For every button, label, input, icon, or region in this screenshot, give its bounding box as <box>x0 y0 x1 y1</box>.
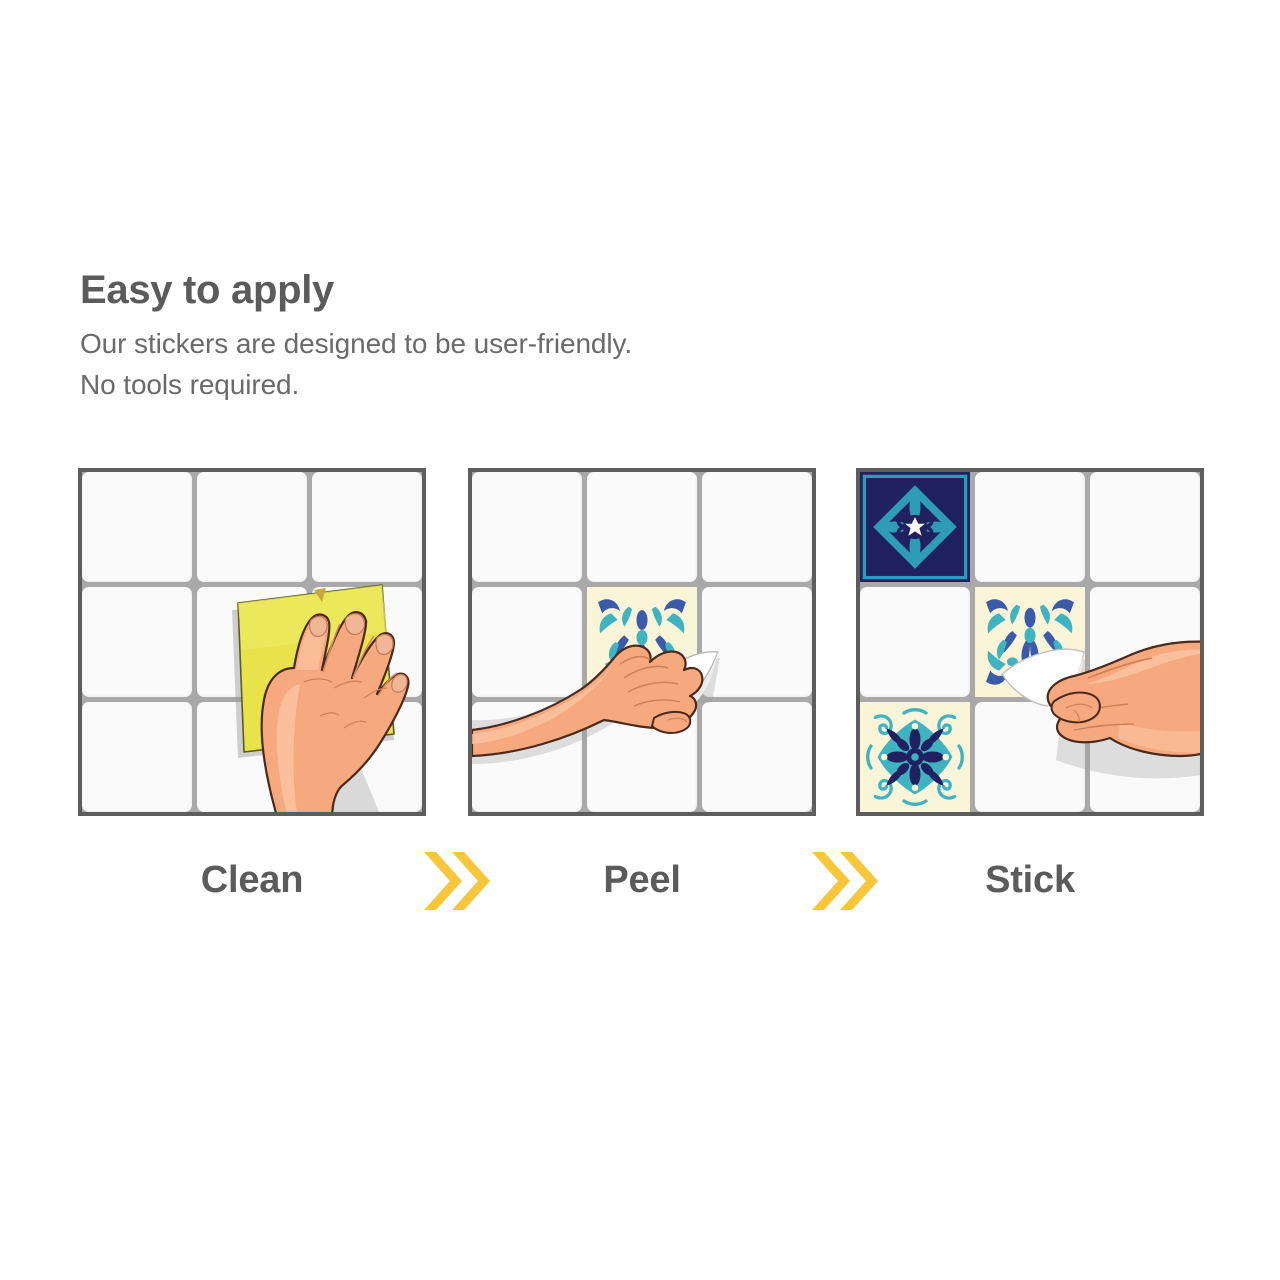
tile <box>860 587 970 697</box>
tile <box>1090 702 1200 812</box>
tile-decorated-top-left <box>860 472 970 582</box>
subtitle-line-2: No tools required. <box>80 365 980 406</box>
tile-grid-stick <box>860 472 1200 812</box>
tile <box>702 587 812 697</box>
tile <box>82 587 192 697</box>
tile <box>312 702 422 812</box>
tile-decorated-bottom-left <box>860 702 970 812</box>
subtitle-line-1: Our stickers are designed to be user-fri… <box>80 324 980 365</box>
tile <box>312 472 422 582</box>
page-title: Easy to apply <box>80 270 980 310</box>
step-panel-peel <box>468 468 816 816</box>
floral-tile-pattern-icon <box>587 587 697 697</box>
navy-medallion-tile-pattern-icon <box>860 472 970 582</box>
tile <box>472 472 582 582</box>
tile <box>197 587 307 697</box>
step-captions-row: Clean Peel Stick <box>0 840 1280 920</box>
tile-grid-clean <box>82 472 422 812</box>
step-panel-clean <box>78 468 426 816</box>
tile <box>197 702 307 812</box>
step-label-peel: Peel <box>468 840 816 920</box>
step-label-stick: Stick <box>856 840 1204 920</box>
tile <box>975 702 1085 812</box>
tile-decorated-center <box>975 587 1085 697</box>
step-panel-stick <box>856 468 1204 816</box>
tile <box>1090 587 1200 697</box>
tile <box>1090 472 1200 582</box>
step-label-clean: Clean <box>78 840 426 920</box>
tile <box>975 472 1085 582</box>
heading-block: Easy to apply Our stickers are designed … <box>80 270 980 405</box>
tile-decorated-center <box>587 587 697 697</box>
tile <box>82 472 192 582</box>
floral-tile-pattern-icon <box>975 587 1085 697</box>
tile <box>197 472 307 582</box>
tile <box>587 472 697 582</box>
infographic-root: Easy to apply Our stickers are designed … <box>0 0 1280 1280</box>
tile <box>702 702 812 812</box>
tile <box>472 702 582 812</box>
tile <box>702 472 812 582</box>
steps-panel-row <box>0 468 1280 818</box>
tile <box>472 587 582 697</box>
tile <box>587 702 697 812</box>
scroll-tile-pattern-icon <box>860 702 970 812</box>
tile <box>312 587 422 697</box>
tile-grid-peel <box>472 472 812 812</box>
tile <box>82 702 192 812</box>
